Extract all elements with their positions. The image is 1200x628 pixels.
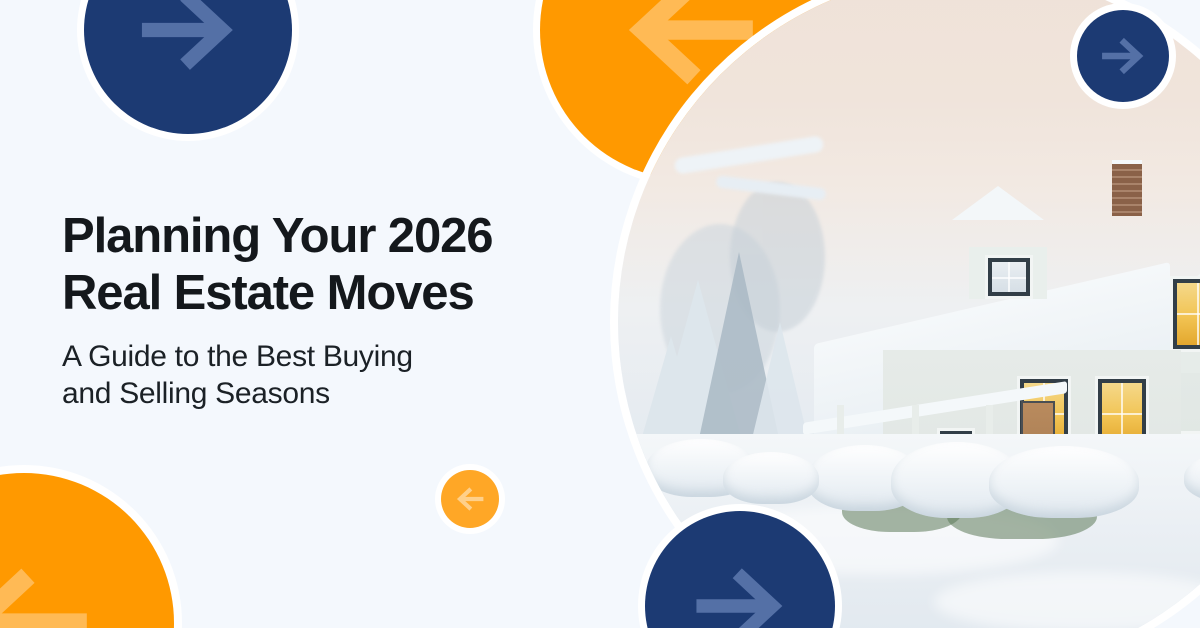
decor-circle-orange-bottomleft — [0, 473, 174, 628]
dormer-window — [988, 258, 1030, 296]
arrow-right-icon — [688, 554, 792, 628]
dormer-roof — [952, 186, 1044, 220]
chimney — [1112, 160, 1142, 216]
headline-line-1: Planning Your 2026 — [62, 209, 492, 263]
page-title: Planning Your 2026Real Estate Moves — [62, 208, 602, 322]
snow-shrub-5 — [723, 452, 819, 504]
arrow-left-icon — [454, 483, 486, 515]
subheadline-line-2: and Selling Seasons — [62, 377, 330, 410]
subheadline-line-1: A Guide to the Best Buying — [62, 340, 413, 373]
arrow-left-icon — [0, 548, 99, 628]
gable-window-left — [1173, 279, 1200, 349]
page-subtitle: A Guide to the Best Buyingand Selling Se… — [62, 338, 602, 414]
decor-circle-orange-small — [441, 470, 499, 528]
decor-circle-navy-topleft — [84, 0, 292, 134]
headline-line-2: Real Estate Moves — [62, 266, 474, 320]
arrow-right-icon — [1098, 31, 1148, 81]
snow-shrub-3 — [989, 446, 1139, 518]
text-block: Planning Your 2026Real Estate Moves A Gu… — [62, 208, 602, 413]
decor-circle-navy-topright — [1077, 10, 1169, 102]
banner-canvas: Planning Your 2026Real Estate Moves A Gu… — [0, 0, 1200, 628]
arrow-right-icon — [133, 0, 243, 85]
dormer — [969, 247, 1047, 299]
